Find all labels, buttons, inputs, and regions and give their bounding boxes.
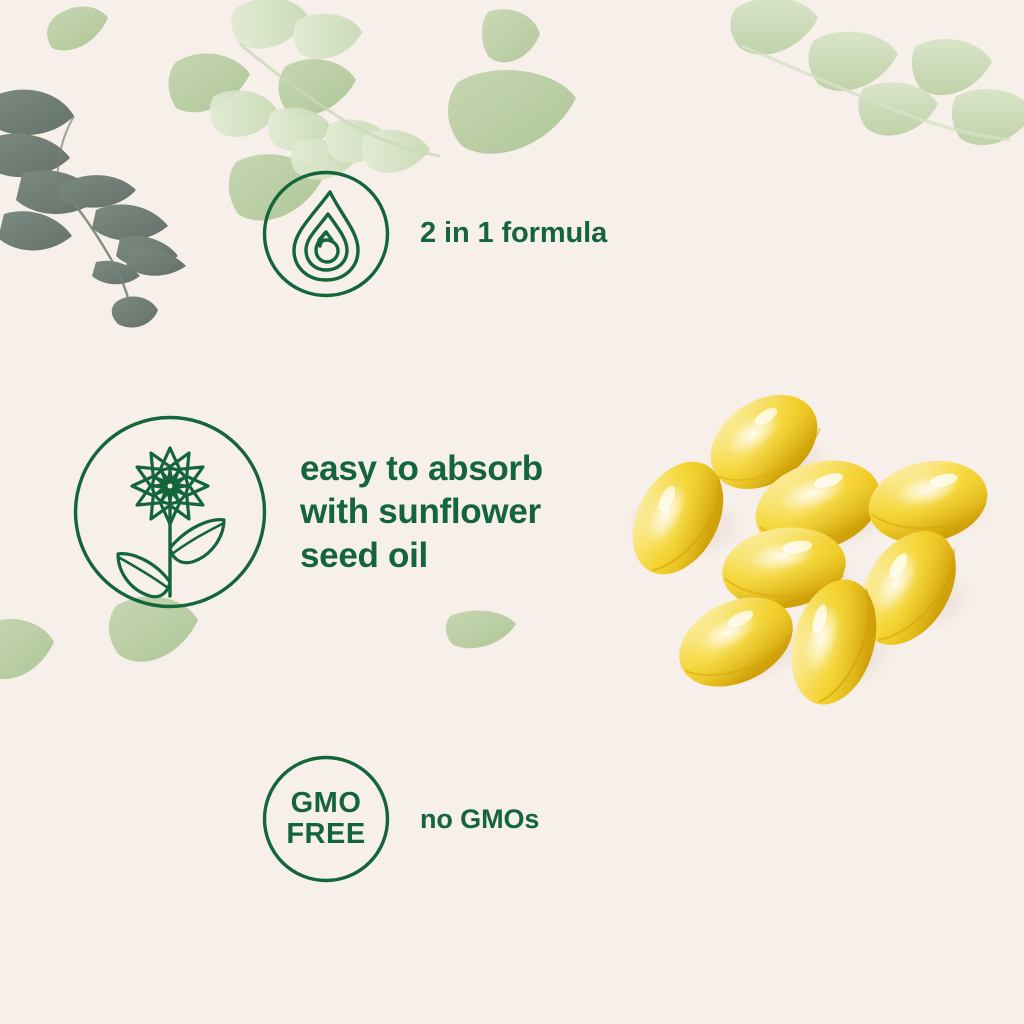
gmo-badge-line-1: GMO	[291, 788, 362, 819]
sunflower-icon	[72, 414, 268, 610]
gmo-free-badge-icon: GMO FREE	[262, 755, 390, 883]
water-droplet-icon	[262, 170, 390, 298]
gmo-badge-line-2: FREE	[286, 819, 365, 850]
feature-item-absorb: easy to absorb with sunflower seed oil	[72, 414, 543, 610]
softgel-capsules-photo	[612, 330, 1024, 730]
feature-label-absorb: easy to absorb with sunflower seed oil	[300, 447, 543, 577]
infographic-canvas: 2 in 1 formula	[0, 0, 1024, 1024]
feature-item-gmo: GMO FREE no GMOs	[262, 755, 539, 883]
gmo-free-badge-text: GMO FREE	[262, 755, 390, 883]
feature-label-formula: 2 in 1 formula	[420, 218, 607, 250]
feature-item-formula: 2 in 1 formula	[262, 170, 607, 298]
feature-label-gmo: no GMOs	[420, 804, 539, 835]
